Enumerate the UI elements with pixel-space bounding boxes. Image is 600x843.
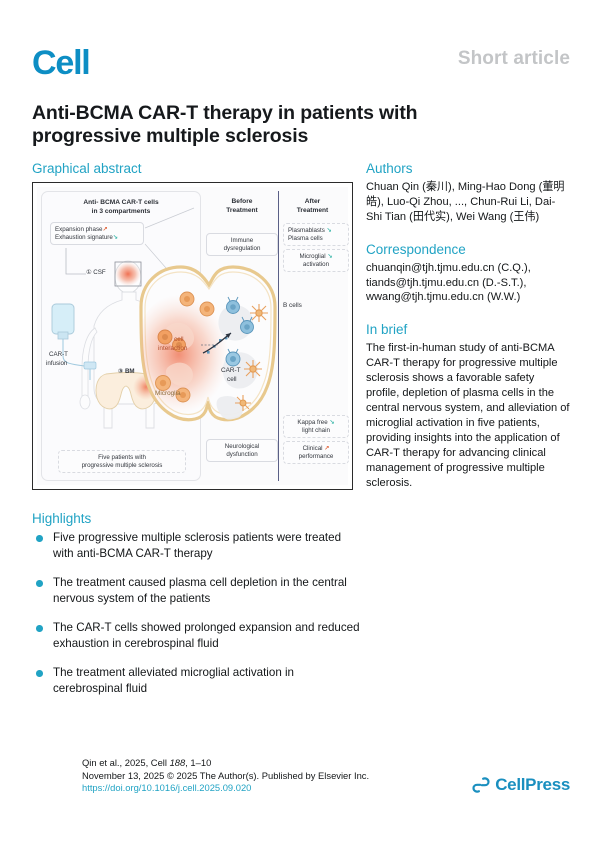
neurological-dysfunction-label: Neurological dysfunction (206, 439, 278, 462)
immune-dysregulation-line1: Immune (231, 237, 253, 244)
cellpress-wordmark: CellPress (495, 775, 570, 795)
microglial-line2: activation (303, 261, 329, 268)
correspondence-emails[interactable]: chuanqin@tjh.tjmu.edu.cn (C.Q.), tiands@… (366, 261, 570, 305)
car-t-infusion-label-line1: CAR-T (49, 351, 68, 358)
car-t-infusion-label-line2: infusion (46, 360, 67, 367)
article-metadata-column: Authors Chuan Qin (秦川), Ming-Hao Dong (董… (366, 161, 570, 508)
before-title-line1: Before (205, 198, 279, 207)
compartment-blood-label: ② Blood (158, 304, 182, 311)
kappa-free-light-chain-label: Kappa free ↘ light chain (283, 415, 349, 438)
highlight-item: The CAR-T cells showed prolonged expansi… (32, 620, 362, 651)
cell-interaction-line1: cell (174, 336, 184, 343)
compartment-bm-label: ③ BM (118, 368, 135, 375)
cohort-line2: progressive multiple sclerosis (82, 462, 163, 469)
b-cells-label: B cells (283, 302, 302, 309)
cohort-line1: Five patients with (98, 454, 146, 461)
clinical-line1: Clinical (303, 445, 323, 452)
highlight-item: The treatment caused plasma cell depleti… (32, 575, 362, 606)
cellpress-link-icon (471, 775, 491, 795)
immune-dysregulation-line2: dysregulation (224, 245, 261, 252)
doi-link[interactable]: https://doi.org/10.1016/j.cell.2025.09.0… (82, 782, 369, 795)
highlights-list: Five progressive multiple sclerosis pati… (32, 530, 362, 710)
panel-after-treatment: After Treatment Plasmablasts ↘ Plasma ce… (281, 191, 344, 481)
after-title-line1: After (281, 198, 344, 207)
patients-cohort-label: Five patients with progressive multiple … (58, 450, 186, 473)
plasmablasts-line: Plasmablasts (288, 227, 325, 234)
before-title-line2: Treatment (205, 207, 279, 216)
highlight-item: Five progressive multiple sclerosis pati… (32, 530, 362, 561)
citation-line: Qin et al., 2025, Cell 188, 1–10 (82, 757, 369, 770)
article-type-label: Short article (458, 48, 570, 70)
kappa-line1: Kappa free (297, 419, 327, 426)
clinical-performance-label: Clinical ↗ performance (283, 441, 349, 464)
masthead: Cell Short article (32, 42, 570, 86)
microglial-down-arrow-icon: ↘ (327, 253, 332, 260)
graphical-abstract-canvas: Anti- BCMA CAR-T cells in 3 compartments… (37, 187, 348, 485)
cellpress-logo: CellPress (471, 775, 570, 795)
footer-citation: Qin et al., 2025, Cell 188, 1–10 Novembe… (82, 757, 369, 795)
authors-list: Chuan Qin (秦川), Ming-Hao Dong (董明皓), Luo… (366, 180, 570, 225)
microglia-label: Microglia (155, 390, 181, 397)
citation-pre: Qin et al., 2025, Cell (82, 757, 170, 768)
graphical-abstract-figure: Anti- BCMA CAR-T cells in 3 compartments… (32, 182, 353, 490)
panel-before-treatment: Before Treatment Immune dysregulation Ne… (205, 191, 279, 481)
plasma-cells-line: Plasma cells (288, 235, 323, 242)
microglial-line1: Microglial (299, 253, 325, 260)
in-brief-heading: In brief (366, 322, 570, 337)
after-title-line2: Treatment (281, 207, 344, 216)
before-after-divider (278, 191, 279, 481)
clinical-up-arrow-icon: ↗ (324, 445, 329, 452)
neuro-dysfunction-line1: Neurological (225, 443, 259, 450)
in-brief-text: The first-in-human study of anti-BCMA CA… (366, 341, 570, 491)
authors-heading: Authors (366, 161, 570, 176)
correspondence-heading: Correspondence (366, 242, 570, 257)
copyright-line: November 13, 2025 © 2025 The Author(s). … (82, 770, 369, 783)
cart-cell-label-line1: CAR-T (221, 367, 241, 374)
clinical-line2: performance (299, 453, 334, 460)
neuro-dysfunction-line2: dysfunction (226, 451, 257, 458)
plasma-down-arrow-icon: ↘ (327, 227, 332, 234)
article-cover-page: Cell Short article Anti-BCMA CAR-T thera… (0, 0, 600, 843)
highlights-heading: Highlights (32, 511, 91, 526)
cell-journal-logo: Cell (32, 46, 90, 80)
microglial-activation-reduction-label: Microglial ↘ activation (283, 249, 349, 272)
cell-interaction-line2: interaction (158, 345, 188, 352)
kappa-line2: light chain (302, 427, 330, 434)
citation-volume: 188 (170, 757, 186, 768)
graphical-abstract-heading: Graphical abstract (32, 161, 142, 176)
kappa-down-arrow-icon: ↘ (329, 419, 334, 426)
cart-cell-label-line2: cell (227, 376, 237, 383)
immune-dysregulation-label: Immune dysregulation (206, 233, 278, 256)
highlight-item: The treatment alleviated microglial acti… (32, 665, 362, 696)
citation-post: , 1–10 (185, 757, 211, 768)
article-title: Anti-BCMA CAR-T therapy in patients with… (32, 102, 512, 148)
plasma-cells-reduction-label: Plasmablasts ↘ Plasma cells (283, 223, 349, 246)
